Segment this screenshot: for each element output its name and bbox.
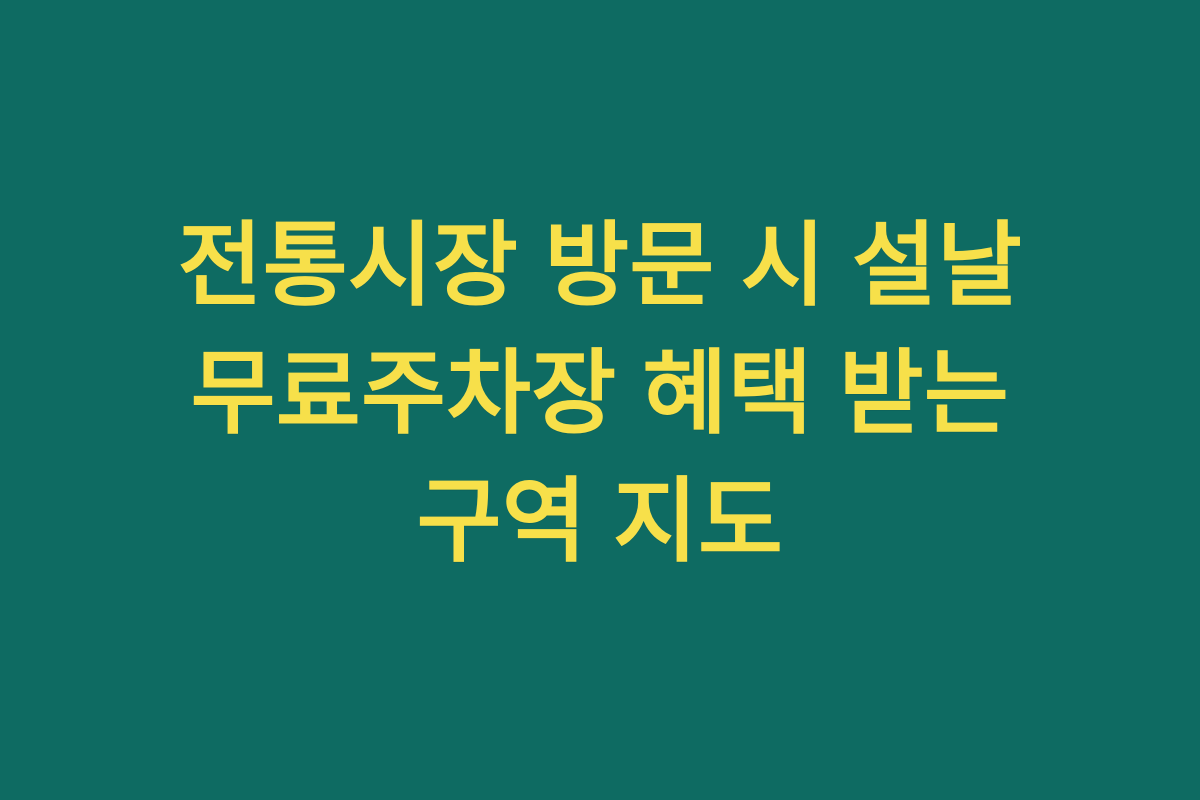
headline-block: 전통시장 방문 시 설날 무료주차장 혜택 받는 구역 지도 [100,202,1100,586]
headline-line-2: 무료주차장 혜택 받는 [100,330,1100,458]
headline-line-1: 전통시장 방문 시 설날 [100,202,1100,330]
banner-card: 전통시장 방문 시 설날 무료주차장 혜택 받는 구역 지도 [0,0,1200,800]
headline-line-3: 구역 지도 [100,458,1100,586]
